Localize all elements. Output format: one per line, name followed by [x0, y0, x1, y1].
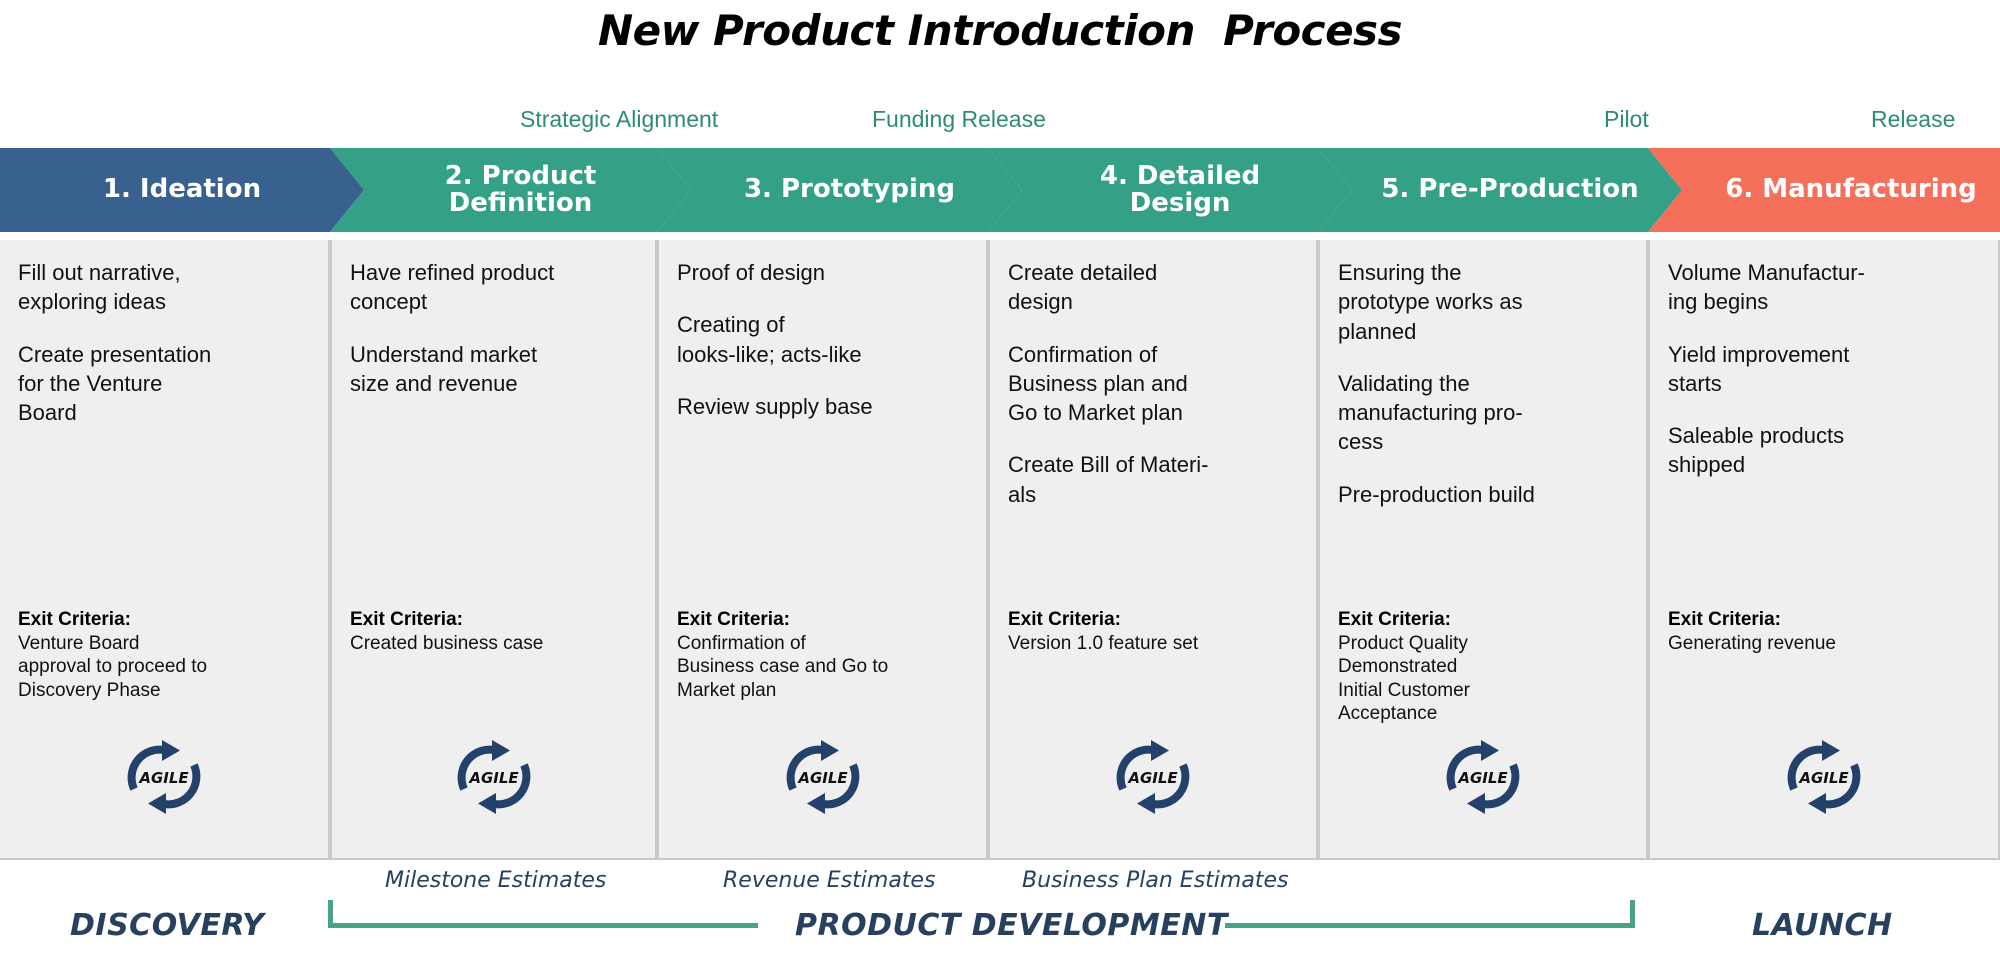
- stage-panel-1: Fill out narrative, exploring ideasCreat…: [0, 240, 330, 860]
- bullet-item: Create presentation for the Venture Boar…: [18, 340, 312, 428]
- bullet-item: Have refined product concept: [350, 258, 639, 317]
- exit-criteria-label: Exit Criteria:: [350, 608, 643, 632]
- gate-label-1: Strategic Alignment: [520, 106, 718, 133]
- gate-label-2: Funding Release: [872, 106, 1046, 133]
- bullet-item: Proof of design: [677, 258, 970, 287]
- stage-header-4[interactable]: 4. Detailed Design: [988, 148, 1352, 232]
- exit-criteria-block: Exit Criteria:Confirmation of Business c…: [677, 608, 974, 702]
- exit-criteria-label: Exit Criteria:: [1008, 608, 1304, 632]
- bracket-line-left: [328, 923, 758, 928]
- exit-criteria-block: Exit Criteria:Generating revenue: [1668, 608, 1986, 655]
- phase-footer: DISCOVERYPRODUCT DEVELOPMENTLAUNCH: [0, 908, 2000, 961]
- estimate-caption-3: Business Plan Estimates: [1022, 868, 1288, 893]
- bullet-item: Creating of looks-like; acts-like: [677, 310, 970, 369]
- page-title: New Product Introduction Process: [0, 0, 2000, 62]
- exit-criteria-block: Exit Criteria:Created business case: [350, 608, 643, 655]
- exit-criteria-text: Confirmation of Business case and Go to …: [677, 632, 974, 703]
- exit-criteria-text: Venture Board approval to proceed to Dis…: [18, 632, 316, 703]
- bullet-item: Fill out narrative, exploring ideas: [18, 258, 312, 317]
- exit-criteria-block: Exit Criteria:Venture Board approval to …: [18, 608, 316, 702]
- svg-text:AGILE: AGILE: [1457, 769, 1508, 787]
- agile-cycle-icon: AGILE: [446, 734, 542, 820]
- svg-text:AGILE: AGILE: [468, 769, 519, 787]
- bullet-item: Ensuring the prototype works as planned: [1338, 258, 1630, 346]
- stage-header-6[interactable]: 6. Manufacturing: [1648, 148, 2000, 232]
- bullet-item: Validating the manufacturing pro- cess: [1338, 369, 1630, 457]
- bullet-item: Confirmation of Business plan and Go to …: [1008, 340, 1300, 428]
- estimate-caption-2: Revenue Estimates: [723, 868, 935, 893]
- bullet-item: Create Bill of Materi- als: [1008, 450, 1300, 509]
- bracket-line-right: [1225, 923, 1635, 928]
- stage-bullets: Create detailed designConfirmation of Bu…: [1008, 258, 1300, 509]
- bullet-item: Understand market size and revenue: [350, 340, 639, 399]
- gate-label-4: Release: [1871, 106, 1955, 133]
- bracket-tick-right: [1630, 900, 1635, 928]
- exit-criteria-block: Exit Criteria:Version 1.0 feature set: [1008, 608, 1304, 655]
- svg-text:AGILE: AGILE: [797, 769, 848, 787]
- agile-cycle-icon: AGILE: [1776, 734, 1872, 820]
- gate-label-3: Pilot: [1604, 106, 1649, 133]
- stage-header-3[interactable]: 3. Prototyping: [657, 148, 1022, 232]
- bullet-item: Volume Manufactur- ing begins: [1668, 258, 1982, 317]
- bullet-item: Create detailed design: [1008, 258, 1300, 317]
- stage-header-1[interactable]: 1. Ideation: [0, 148, 364, 232]
- phase-label-1: DISCOVERY: [70, 908, 264, 943]
- stage-panel-6: Volume Manufactur- ing beginsYield impro…: [1648, 240, 2000, 860]
- stage-chevron-band: 1. Ideation2. Product Definition3. Proto…: [0, 148, 2000, 232]
- stage-panel-2: Have refined product conceptUnderstand m…: [330, 240, 657, 860]
- bullet-item: Pre-production build: [1338, 480, 1630, 509]
- exit-criteria-label: Exit Criteria:: [1668, 608, 1986, 632]
- estimate-caption-1: Milestone Estimates: [385, 868, 606, 893]
- agile-cycle-icon: AGILE: [1435, 734, 1531, 820]
- exit-criteria-block: Exit Criteria:Product Quality Demonstrat…: [1338, 608, 1634, 726]
- exit-criteria-text: Created business case: [350, 632, 643, 656]
- exit-criteria-label: Exit Criteria:: [677, 608, 974, 632]
- svg-text:AGILE: AGILE: [1127, 769, 1178, 787]
- exit-criteria-text: Product Quality Demonstrated Initial Cus…: [1338, 632, 1634, 726]
- stage-header-5[interactable]: 5. Pre-Production: [1318, 148, 1682, 232]
- agile-cycle-icon: AGILE: [116, 734, 212, 820]
- exit-criteria-label: Exit Criteria:: [18, 608, 316, 632]
- agile-cycle-icon: AGILE: [1105, 734, 1201, 820]
- stage-bullets: Have refined product conceptUnderstand m…: [350, 258, 639, 398]
- stage-header-2[interactable]: 2. Product Definition: [330, 148, 691, 232]
- bullet-item: Review supply base: [677, 392, 970, 421]
- stage-panel-4: Create detailed designConfirmation of Bu…: [988, 240, 1318, 860]
- phase-label-2: PRODUCT DEVELOPMENT: [795, 908, 1228, 943]
- exit-criteria-text: Version 1.0 feature set: [1008, 632, 1304, 656]
- stage-panel-5: Ensuring the prototype works as plannedV…: [1318, 240, 1648, 860]
- svg-text:AGILE: AGILE: [138, 769, 189, 787]
- svg-text:AGILE: AGILE: [1798, 769, 1849, 787]
- stage-bullets: Ensuring the prototype works as plannedV…: [1338, 258, 1630, 509]
- estimate-captions: Milestone EstimatesRevenue EstimatesBusi…: [0, 868, 2000, 900]
- exit-criteria-text: Generating revenue: [1668, 632, 1986, 656]
- bullet-item: Saleable products shipped: [1668, 421, 1982, 480]
- bullet-item: Yield improvement starts: [1668, 340, 1982, 399]
- gate-labels: Strategic AlignmentFunding ReleasePilotR…: [0, 106, 2000, 140]
- stage-panel-3: Proof of designCreating of looks-like; a…: [657, 240, 988, 860]
- stage-bullets: Volume Manufactur- ing beginsYield impro…: [1668, 258, 1982, 480]
- exit-criteria-label: Exit Criteria:: [1338, 608, 1634, 632]
- stage-columns: Fill out narrative, exploring ideasCreat…: [0, 240, 2000, 860]
- agile-cycle-icon: AGILE: [775, 734, 871, 820]
- stage-bullets: Proof of designCreating of looks-like; a…: [677, 258, 970, 421]
- stage-bullets: Fill out narrative, exploring ideasCreat…: [18, 258, 312, 427]
- phase-label-3: LAUNCH: [1752, 908, 1893, 943]
